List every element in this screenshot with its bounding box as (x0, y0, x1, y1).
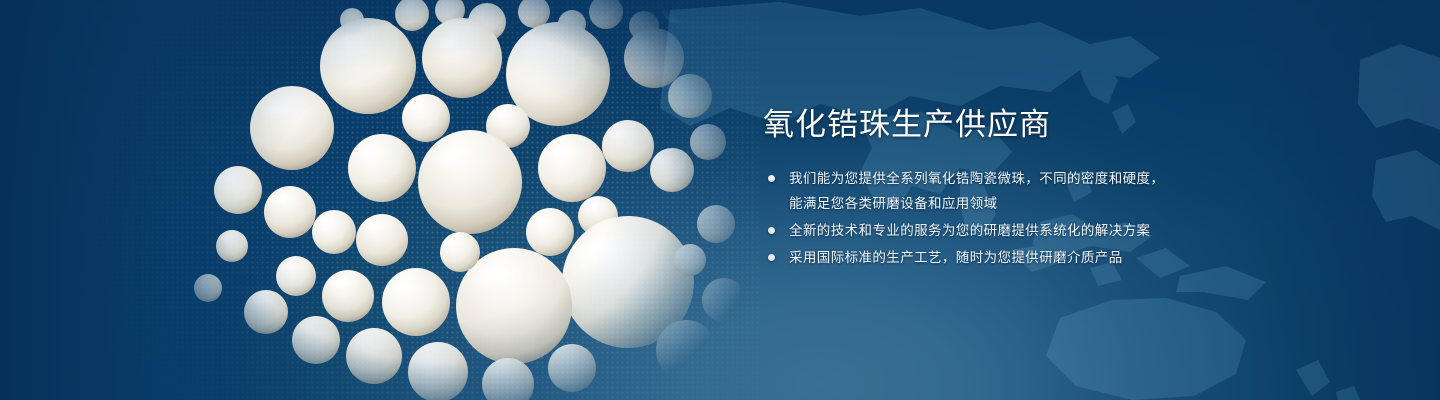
list-item: 全新的技术和专业的服务为您的研磨提供系统化的解决方案 (763, 218, 1233, 243)
page-title: 氧化锆珠生产供应商 (763, 105, 1233, 145)
list-item: 我们能为您提供全系列氧化锆陶瓷微珠，不同的密度和硬度， 能满足您各类研磨设备和应… (763, 166, 1233, 216)
list-item: 采用国际标准的生产工艺，随时为您提供研磨介质产品 (763, 245, 1233, 270)
list-item-line: 我们能为您提供全系列氧化锆陶瓷微珠，不同的密度和硬度， (789, 166, 1233, 191)
list-item-line: 全新的技术和专业的服务为您的研磨提供系统化的解决方案 (789, 218, 1233, 243)
bullet-dot-icon (768, 175, 775, 182)
list-item-line: 能满足您各类研磨设备和应用领域 (789, 191, 1233, 216)
bullet-dot-icon (768, 227, 775, 234)
banner-copy: 氧化锆珠生产供应商 我们能为您提供全系列氧化锆陶瓷微珠，不同的密度和硬度， 能满… (763, 105, 1233, 272)
feature-list: 我们能为您提供全系列氧化锆陶瓷微珠，不同的密度和硬度， 能满足您各类研磨设备和应… (763, 166, 1233, 270)
bullet-dot-icon (768, 254, 775, 261)
promo-banner: 氧化锆珠生产供应商 我们能为您提供全系列氧化锆陶瓷微珠，不同的密度和硬度， 能满… (0, 0, 1440, 400)
list-item-line: 采用国际标准的生产工艺，随时为您提供研磨介质产品 (789, 245, 1233, 270)
zirconia-beads-photo (120, 0, 740, 400)
